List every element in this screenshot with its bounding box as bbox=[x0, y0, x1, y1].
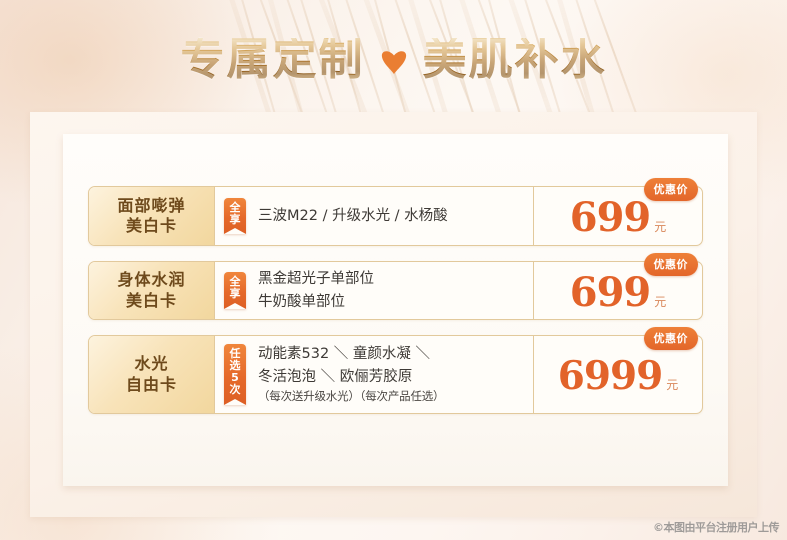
status-badge: 优惠价 bbox=[644, 327, 699, 350]
package-name-line: 美白卡 bbox=[126, 217, 177, 235]
package-detail-lines: 动能素532 ＼ 童颜水凝 ＼ 冬活泡泡 ＼ 欧俪芳胶原 （每次送升级水光）（每… bbox=[258, 343, 444, 406]
package-detail-line: 三波M22 / 升级水光 / 水杨酸 bbox=[258, 205, 448, 227]
price-group: 699 元 bbox=[570, 273, 667, 313]
title-right-text: 美肌补水 bbox=[423, 38, 607, 82]
package-price-cell: 优惠价 6999 元 bbox=[534, 336, 702, 413]
package-detail-cell: 全 享 三波M22 / 升级水光 / 水杨酸 bbox=[215, 187, 534, 245]
badge-ribbon: 全 享 bbox=[224, 198, 246, 235]
watermark: ©本图由平台注册用户上传 bbox=[653, 519, 779, 535]
package-detail-line: 动能素532 ＼ 童颜水凝 ＼ bbox=[258, 343, 444, 365]
package-detail-lines: 黑金超光子单部位 牛奶酸单部位 bbox=[258, 268, 374, 313]
package-row[interactable]: 身体水润 美白卡 全 享 黑金超光子单部位 牛奶酸单部位 优惠价 699 元 bbox=[88, 261, 703, 320]
page-title: 专属定制 美肌补水 bbox=[0, 30, 787, 90]
package-detail-cell: 全 享 黑金超光子单部位 牛奶酸单部位 bbox=[215, 262, 534, 319]
package-name-line: 身体水润 bbox=[117, 271, 185, 289]
package-row[interactable]: 面部嘭弹 美白卡 全 享 三波M22 / 升级水光 / 水杨酸 优惠价 699 … bbox=[88, 186, 703, 246]
package-name-cell: 身体水润 美白卡 bbox=[89, 262, 215, 319]
price-value: 699 bbox=[570, 273, 651, 313]
price-group: 6999 元 bbox=[558, 357, 679, 396]
price-unit: 元 bbox=[666, 376, 678, 396]
price-value: 6999 bbox=[558, 357, 663, 396]
price-value: 699 bbox=[570, 198, 651, 238]
badge-ribbon: 全 享 bbox=[224, 272, 246, 309]
package-detail-note: （每次送升级水光）（每次产品任选） bbox=[258, 388, 444, 406]
package-detail-lines: 三波M22 / 升级水光 / 水杨酸 bbox=[258, 205, 448, 227]
badge-char: 享 bbox=[230, 288, 241, 300]
heart-icon bbox=[379, 49, 409, 77]
badge-char: 次 bbox=[230, 384, 241, 396]
price-unit: 元 bbox=[654, 293, 666, 313]
price-unit: 元 bbox=[654, 218, 666, 238]
price-group: 699 元 bbox=[570, 198, 667, 238]
package-name-cell: 面部嘭弹 美白卡 bbox=[89, 187, 215, 245]
title-left-text: 专属定制 bbox=[181, 38, 365, 82]
package-name-line: 美白卡 bbox=[126, 292, 177, 310]
package-detail-line: 冬活泡泡 ＼ 欧俪芳胶原 bbox=[258, 366, 444, 388]
package-price-cell: 优惠价 699 元 bbox=[534, 187, 702, 245]
badge-char: 享 bbox=[230, 214, 241, 226]
package-price-cell: 优惠价 699 元 bbox=[534, 262, 702, 319]
package-list: 面部嘭弹 美白卡 全 享 三波M22 / 升级水光 / 水杨酸 优惠价 699 … bbox=[88, 186, 703, 414]
package-detail-cell: 任 选 5 次 动能素532 ＼ 童颜水凝 ＼ 冬活泡泡 ＼ 欧俪芳胶原 （每次… bbox=[215, 336, 534, 413]
badge-ribbon: 任 选 5 次 bbox=[224, 344, 246, 405]
package-detail-line: 黑金超光子单部位 bbox=[258, 268, 374, 290]
package-row[interactable]: 水光 自由卡 任 选 5 次 动能素532 ＼ 童颜水凝 ＼ 冬活泡泡 ＼ 欧俪… bbox=[88, 335, 703, 414]
package-detail-line: 牛奶酸单部位 bbox=[258, 291, 374, 313]
badge-char: 全 bbox=[230, 202, 241, 214]
package-name-line: 面部嘭弹 bbox=[117, 197, 185, 215]
package-name-line: 水光 bbox=[134, 355, 168, 373]
poster-root: 专属定制 美肌补水 面部嘭弹 美白卡 全 享 三波M22 / 升级水光 / 水杨… bbox=[0, 0, 787, 540]
package-name-line: 自由卡 bbox=[126, 376, 177, 394]
package-name-cell: 水光 自由卡 bbox=[89, 336, 215, 413]
